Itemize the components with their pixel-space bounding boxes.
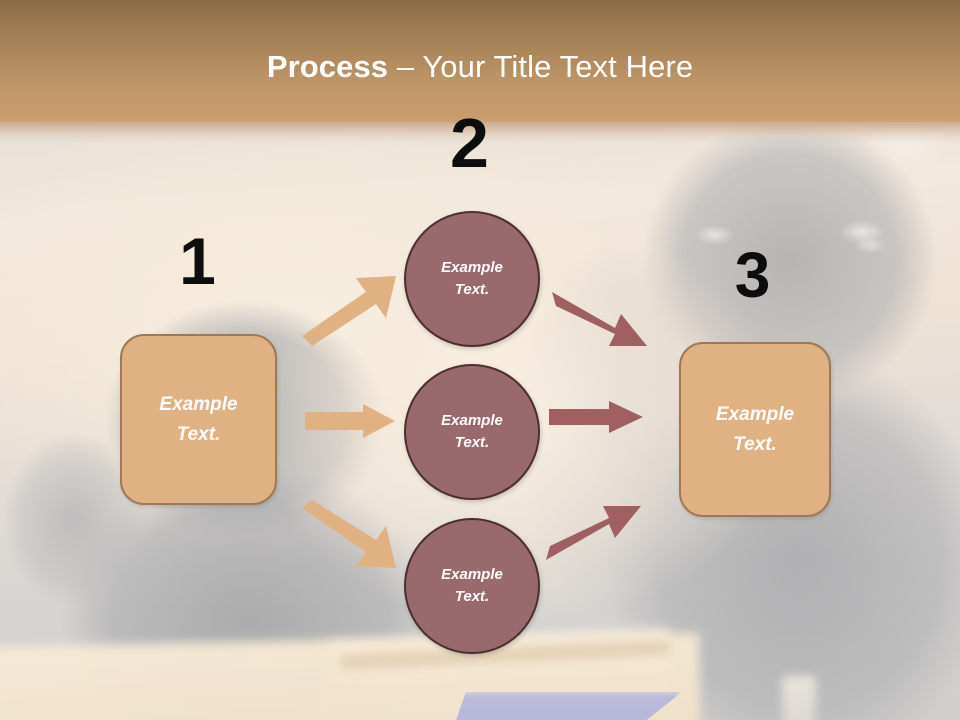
stage3-box-label-line1: Example bbox=[716, 400, 794, 430]
stage2-circle-1-label-line1: Example bbox=[441, 257, 503, 279]
stage2-circle-1[interactable]: Example Text. bbox=[404, 211, 540, 347]
background-laptop bbox=[452, 692, 682, 720]
stage3-box-label-line2: Text. bbox=[716, 430, 794, 460]
slide-canvas: Process – Your Title Text Here 1 2 3 bbox=[0, 0, 960, 720]
step-number-2: 2 bbox=[422, 108, 517, 178]
stage2-circle-3-label: Example Text. bbox=[441, 564, 503, 608]
stage2-circle-3-label-line1: Example bbox=[441, 564, 503, 586]
page-title-rest: – Your Title Text Here bbox=[388, 49, 693, 84]
arrow-right-down bbox=[551, 288, 653, 350]
arrow-left-mid bbox=[305, 404, 395, 440]
stage3-box-label: Example Text. bbox=[716, 400, 794, 460]
stage1-box-label: Example Text. bbox=[159, 390, 237, 450]
stage2-circle-1-label: Example Text. bbox=[441, 257, 503, 301]
page-title-strong: Process bbox=[267, 49, 388, 84]
stage2-circle-2-label: Example Text. bbox=[441, 410, 503, 454]
step-number-1: 1 bbox=[150, 228, 245, 294]
page-title: Process – Your Title Text Here bbox=[0, 49, 960, 85]
background-cup bbox=[782, 676, 816, 720]
stage2-circle-2-label-line2: Text. bbox=[441, 432, 503, 454]
stage2-circle-2-label-line1: Example bbox=[441, 410, 503, 432]
arrow-right-mid bbox=[549, 401, 643, 435]
stage2-circle-1-label-line2: Text. bbox=[441, 279, 503, 301]
stage1-box-label-line1: Example bbox=[159, 390, 237, 420]
stage2-circle-3-label-line2: Text. bbox=[441, 586, 503, 608]
stage2-circle-3[interactable]: Example Text. bbox=[404, 518, 540, 654]
stage3-box[interactable]: Example Text. bbox=[679, 342, 831, 517]
stage1-box-label-line2: Text. bbox=[159, 420, 237, 450]
arrow-left-up bbox=[300, 274, 400, 346]
stage2-circle-2[interactable]: Example Text. bbox=[404, 364, 540, 500]
step-number-3: 3 bbox=[705, 243, 800, 307]
arrow-left-down bbox=[300, 500, 400, 572]
stage1-box[interactable]: Example Text. bbox=[120, 334, 277, 505]
arrow-right-up bbox=[545, 502, 645, 564]
